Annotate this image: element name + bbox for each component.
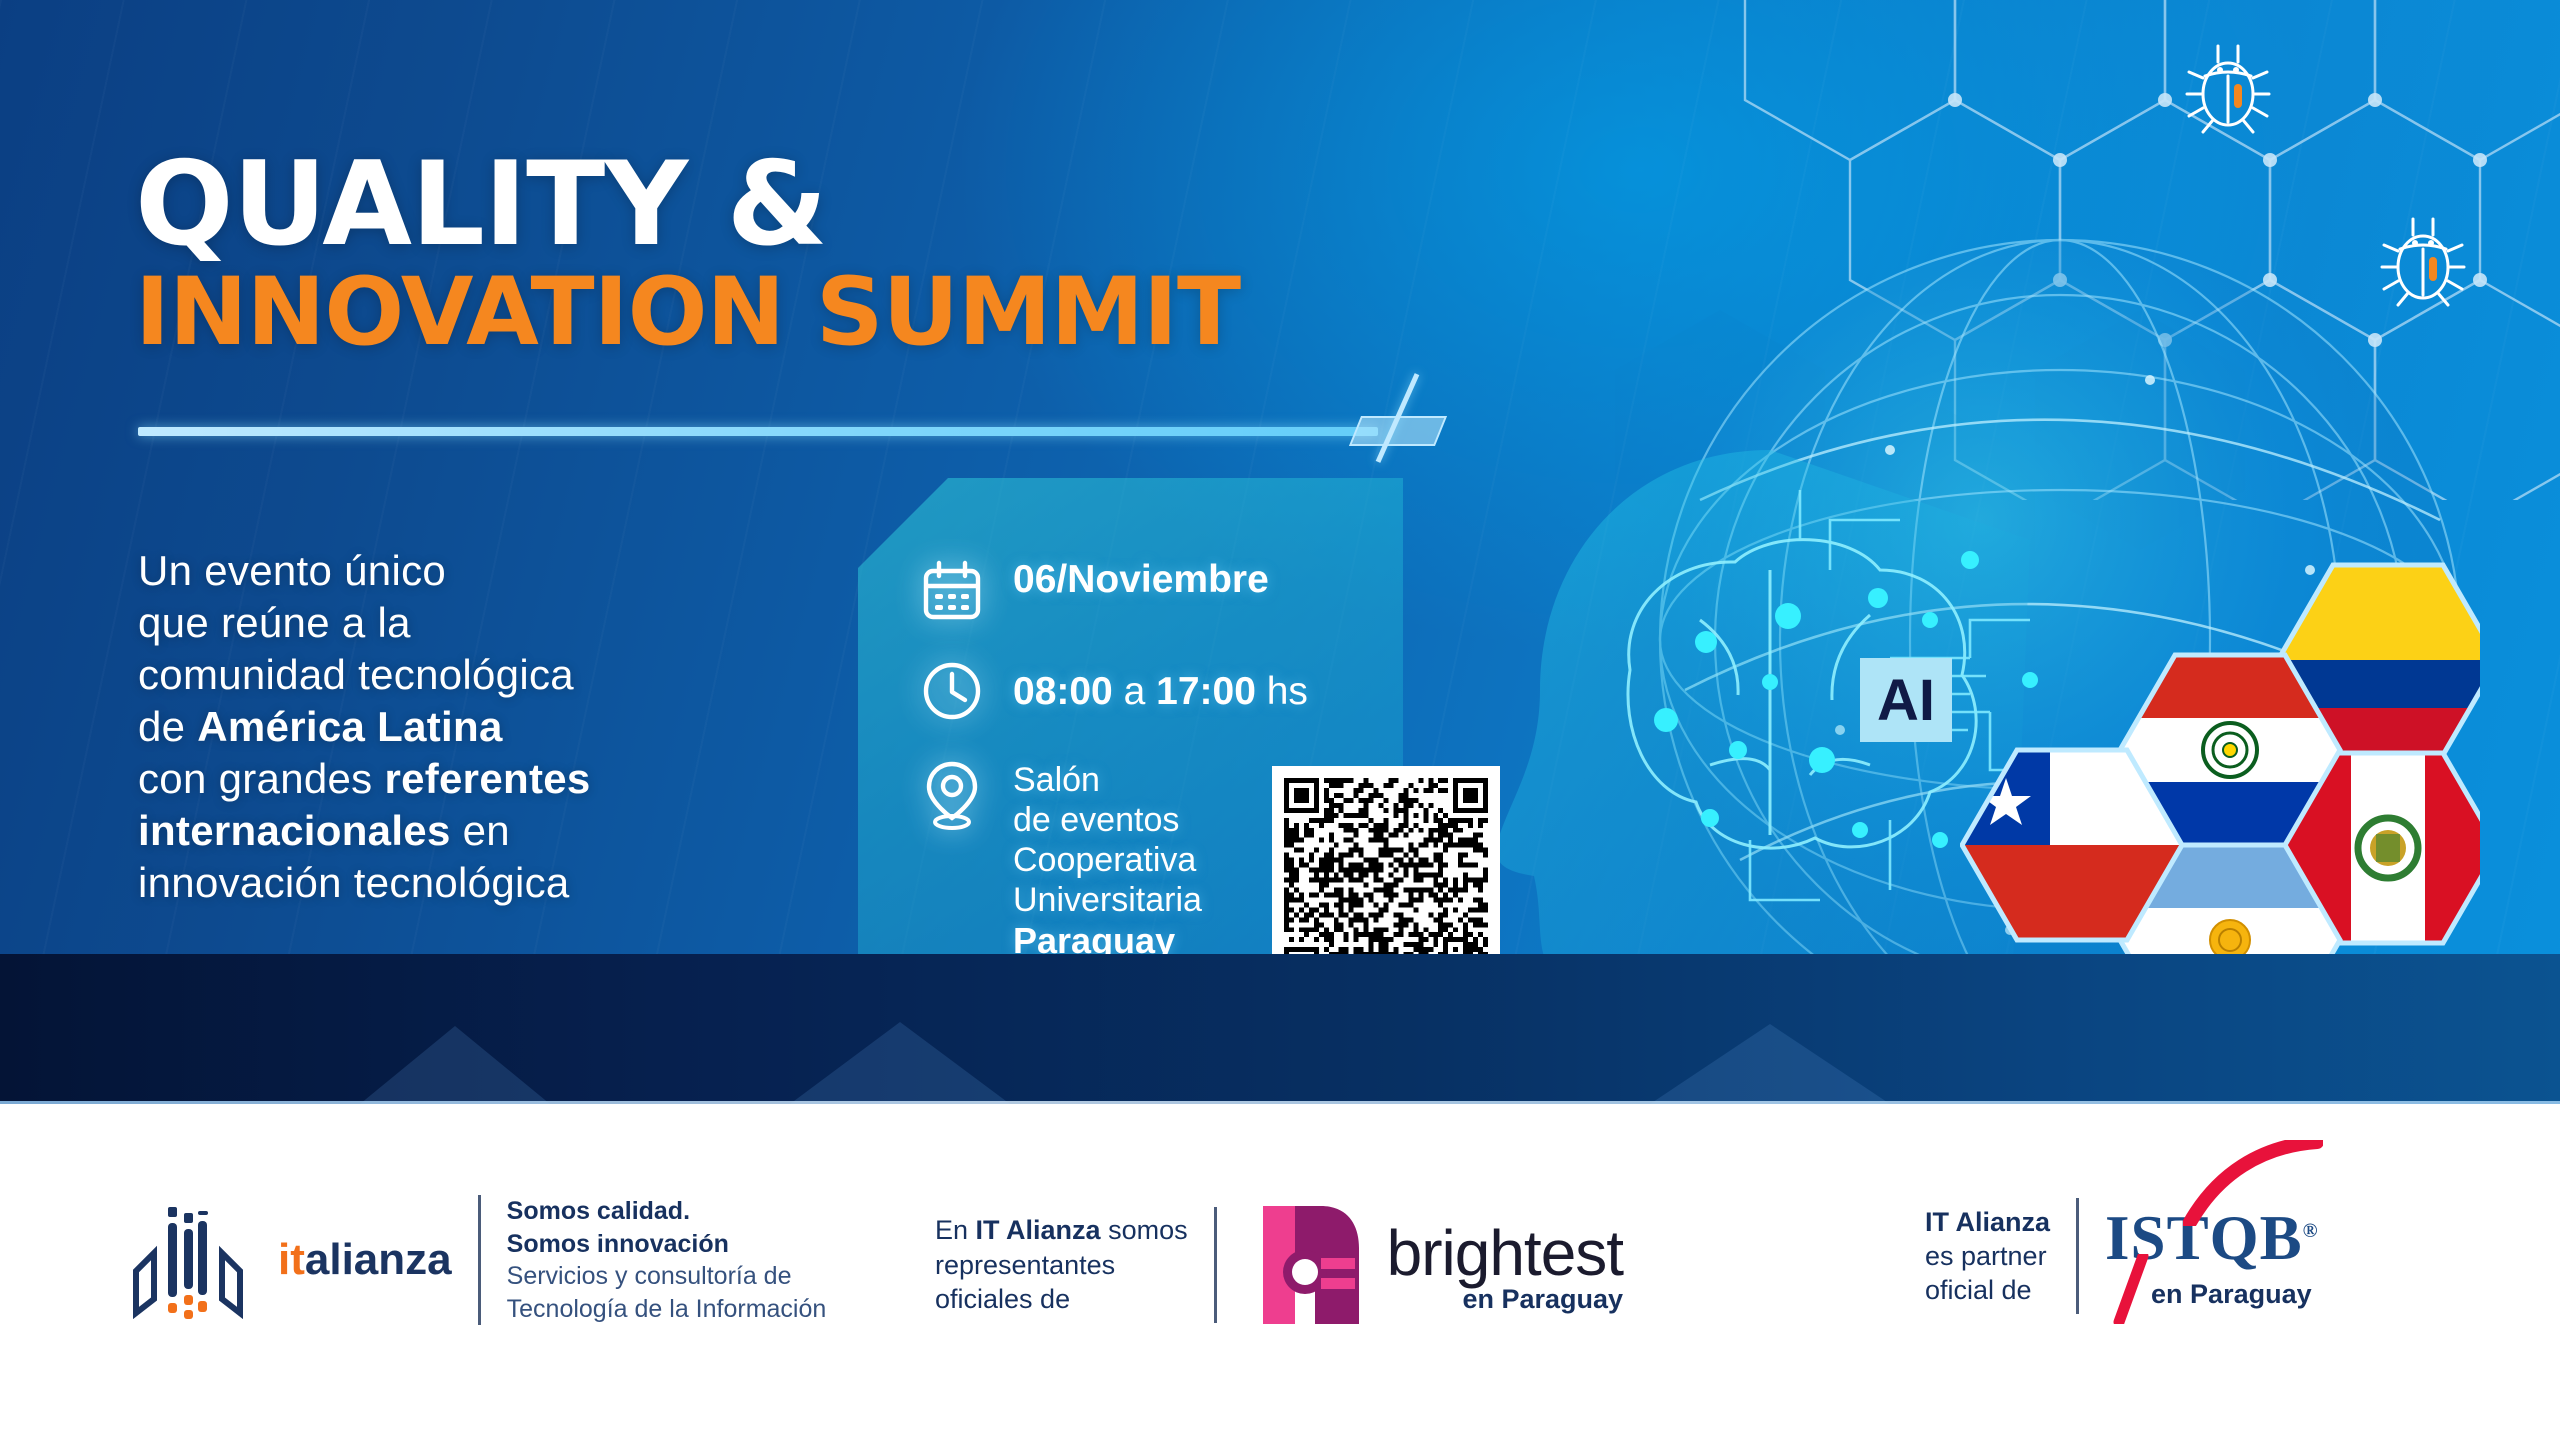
- time-start: 08:00: [1013, 670, 1113, 713]
- istqb-intro-line-2: es partner: [1925, 1239, 2050, 1273]
- ai-chip-label: AI: [1877, 668, 1935, 733]
- desc-line-7: innovación tecnológica: [138, 859, 570, 906]
- italianza-tagline: Somos calidad. Somos innovación Servicio…: [507, 1195, 827, 1325]
- tagline-sub-2: Tecnología de la Información: [507, 1293, 827, 1326]
- desc-highlight-intl: internacionales: [138, 807, 451, 854]
- footer-group-brightest: En IT Alianza somos representantes ofici…: [935, 1200, 1623, 1330]
- title-line-1: QUALITY &: [135, 150, 1240, 260]
- venue-line-2: de eventos: [1013, 801, 1179, 839]
- time-unit: hs: [1267, 670, 1308, 713]
- desc-line-1: Un evento único: [138, 547, 446, 594]
- hero-section: AI: [0, 0, 2560, 1104]
- brightest-intro: En IT Alianza somos representantes ofici…: [935, 1213, 1188, 1317]
- detail-time-value: 08:00 a 17:00 hs: [1013, 672, 1308, 711]
- event-description: Un evento único que reúne a la comunidad…: [138, 545, 838, 910]
- footer-divider: [478, 1195, 481, 1325]
- tagline-sub-1: Servicios y consultoría de: [507, 1260, 827, 1293]
- italianza-logo-mark: [122, 1201, 282, 1319]
- tagline-line-1: Somos calidad.: [507, 1195, 827, 1228]
- brightest-intro-line-3: oficiales de: [935, 1282, 1188, 1317]
- istqb-swoosh-icon: [2183, 1140, 2323, 1226]
- brightest-intro-line-2: representantes: [935, 1248, 1188, 1283]
- footer-group-italianza: italianza Somos calidad. Somos innovació…: [122, 1195, 826, 1325]
- deco-triangle: [790, 1022, 1010, 1104]
- istqb-sub: en Paraguay: [2151, 1279, 2319, 1310]
- desc-highlight-ref: referentes: [384, 755, 590, 802]
- tagline-line-2: Somos innovación: [507, 1228, 827, 1261]
- bug-icon: [2185, 42, 2271, 134]
- detail-date-value: 06/Noviembre: [1013, 560, 1269, 599]
- time-end: 17:00: [1156, 670, 1256, 713]
- venue-line-1: Salón: [1013, 761, 1100, 799]
- deco-triangle: [360, 1026, 550, 1104]
- desc-line-5-prefix: con grandes: [138, 755, 384, 802]
- desc-line-3: comunidad tecnológica: [138, 651, 574, 698]
- italianza-logo-alianza: alianza: [305, 1235, 452, 1284]
- location-pin-icon: [921, 760, 983, 830]
- desc-highlight-latam: América Latina: [197, 703, 502, 750]
- title-line-2: INNOVATION SUMMIT: [135, 266, 1240, 360]
- detail-row-venue: Salón de eventos Cooperativa Universitar…: [921, 760, 1202, 963]
- clock-icon: [921, 660, 983, 722]
- hero-bottom-band: [0, 954, 2560, 1104]
- brightest-intro-line-1: En IT Alianza somos: [935, 1213, 1188, 1248]
- brightest-wordmark: brightest: [1387, 1216, 1623, 1290]
- brightest-logo-mark: [1243, 1200, 1373, 1330]
- italianza-logo-it: it: [278, 1235, 305, 1284]
- istqb-intro-line-3: oficial de: [1925, 1273, 2050, 1307]
- detail-venue-value: Salón de eventos Cooperativa Universitar…: [1013, 760, 1202, 963]
- title-accent-rule: [138, 427, 1378, 436]
- istqb-intro: IT Alianza es partner oficial de: [1925, 1205, 2050, 1307]
- event-title: QUALITY & INNOVATION SUMMIT: [135, 150, 1240, 360]
- desc-line-4-prefix: de: [138, 703, 197, 750]
- istqb-intro-line-1: IT Alianza: [1925, 1205, 2050, 1239]
- calendar-icon: [921, 560, 983, 622]
- footer-divider: [2076, 1198, 2079, 1314]
- footer-divider: [1214, 1207, 1217, 1323]
- time-sep: a: [1124, 670, 1146, 713]
- venue-line-3: Cooperativa: [1013, 841, 1196, 879]
- desc-line-2: que reúne a la: [138, 599, 411, 646]
- brightest-intro-brand: IT Alianza: [976, 1215, 1101, 1245]
- detail-row-date: 06/Noviembre: [921, 560, 1269, 622]
- venue-line-4: Universitaria: [1013, 881, 1202, 919]
- istqb-slash-icon: [2113, 1254, 2153, 1324]
- event-banner: AI: [0, 0, 2560, 1440]
- detail-row-time: 08:00 a 17:00 hs: [921, 660, 1308, 722]
- deco-triangle: [1650, 1024, 1890, 1104]
- footer-group-istqb: IT Alianza es partner oficial de ISTQB® …: [1925, 1198, 2319, 1314]
